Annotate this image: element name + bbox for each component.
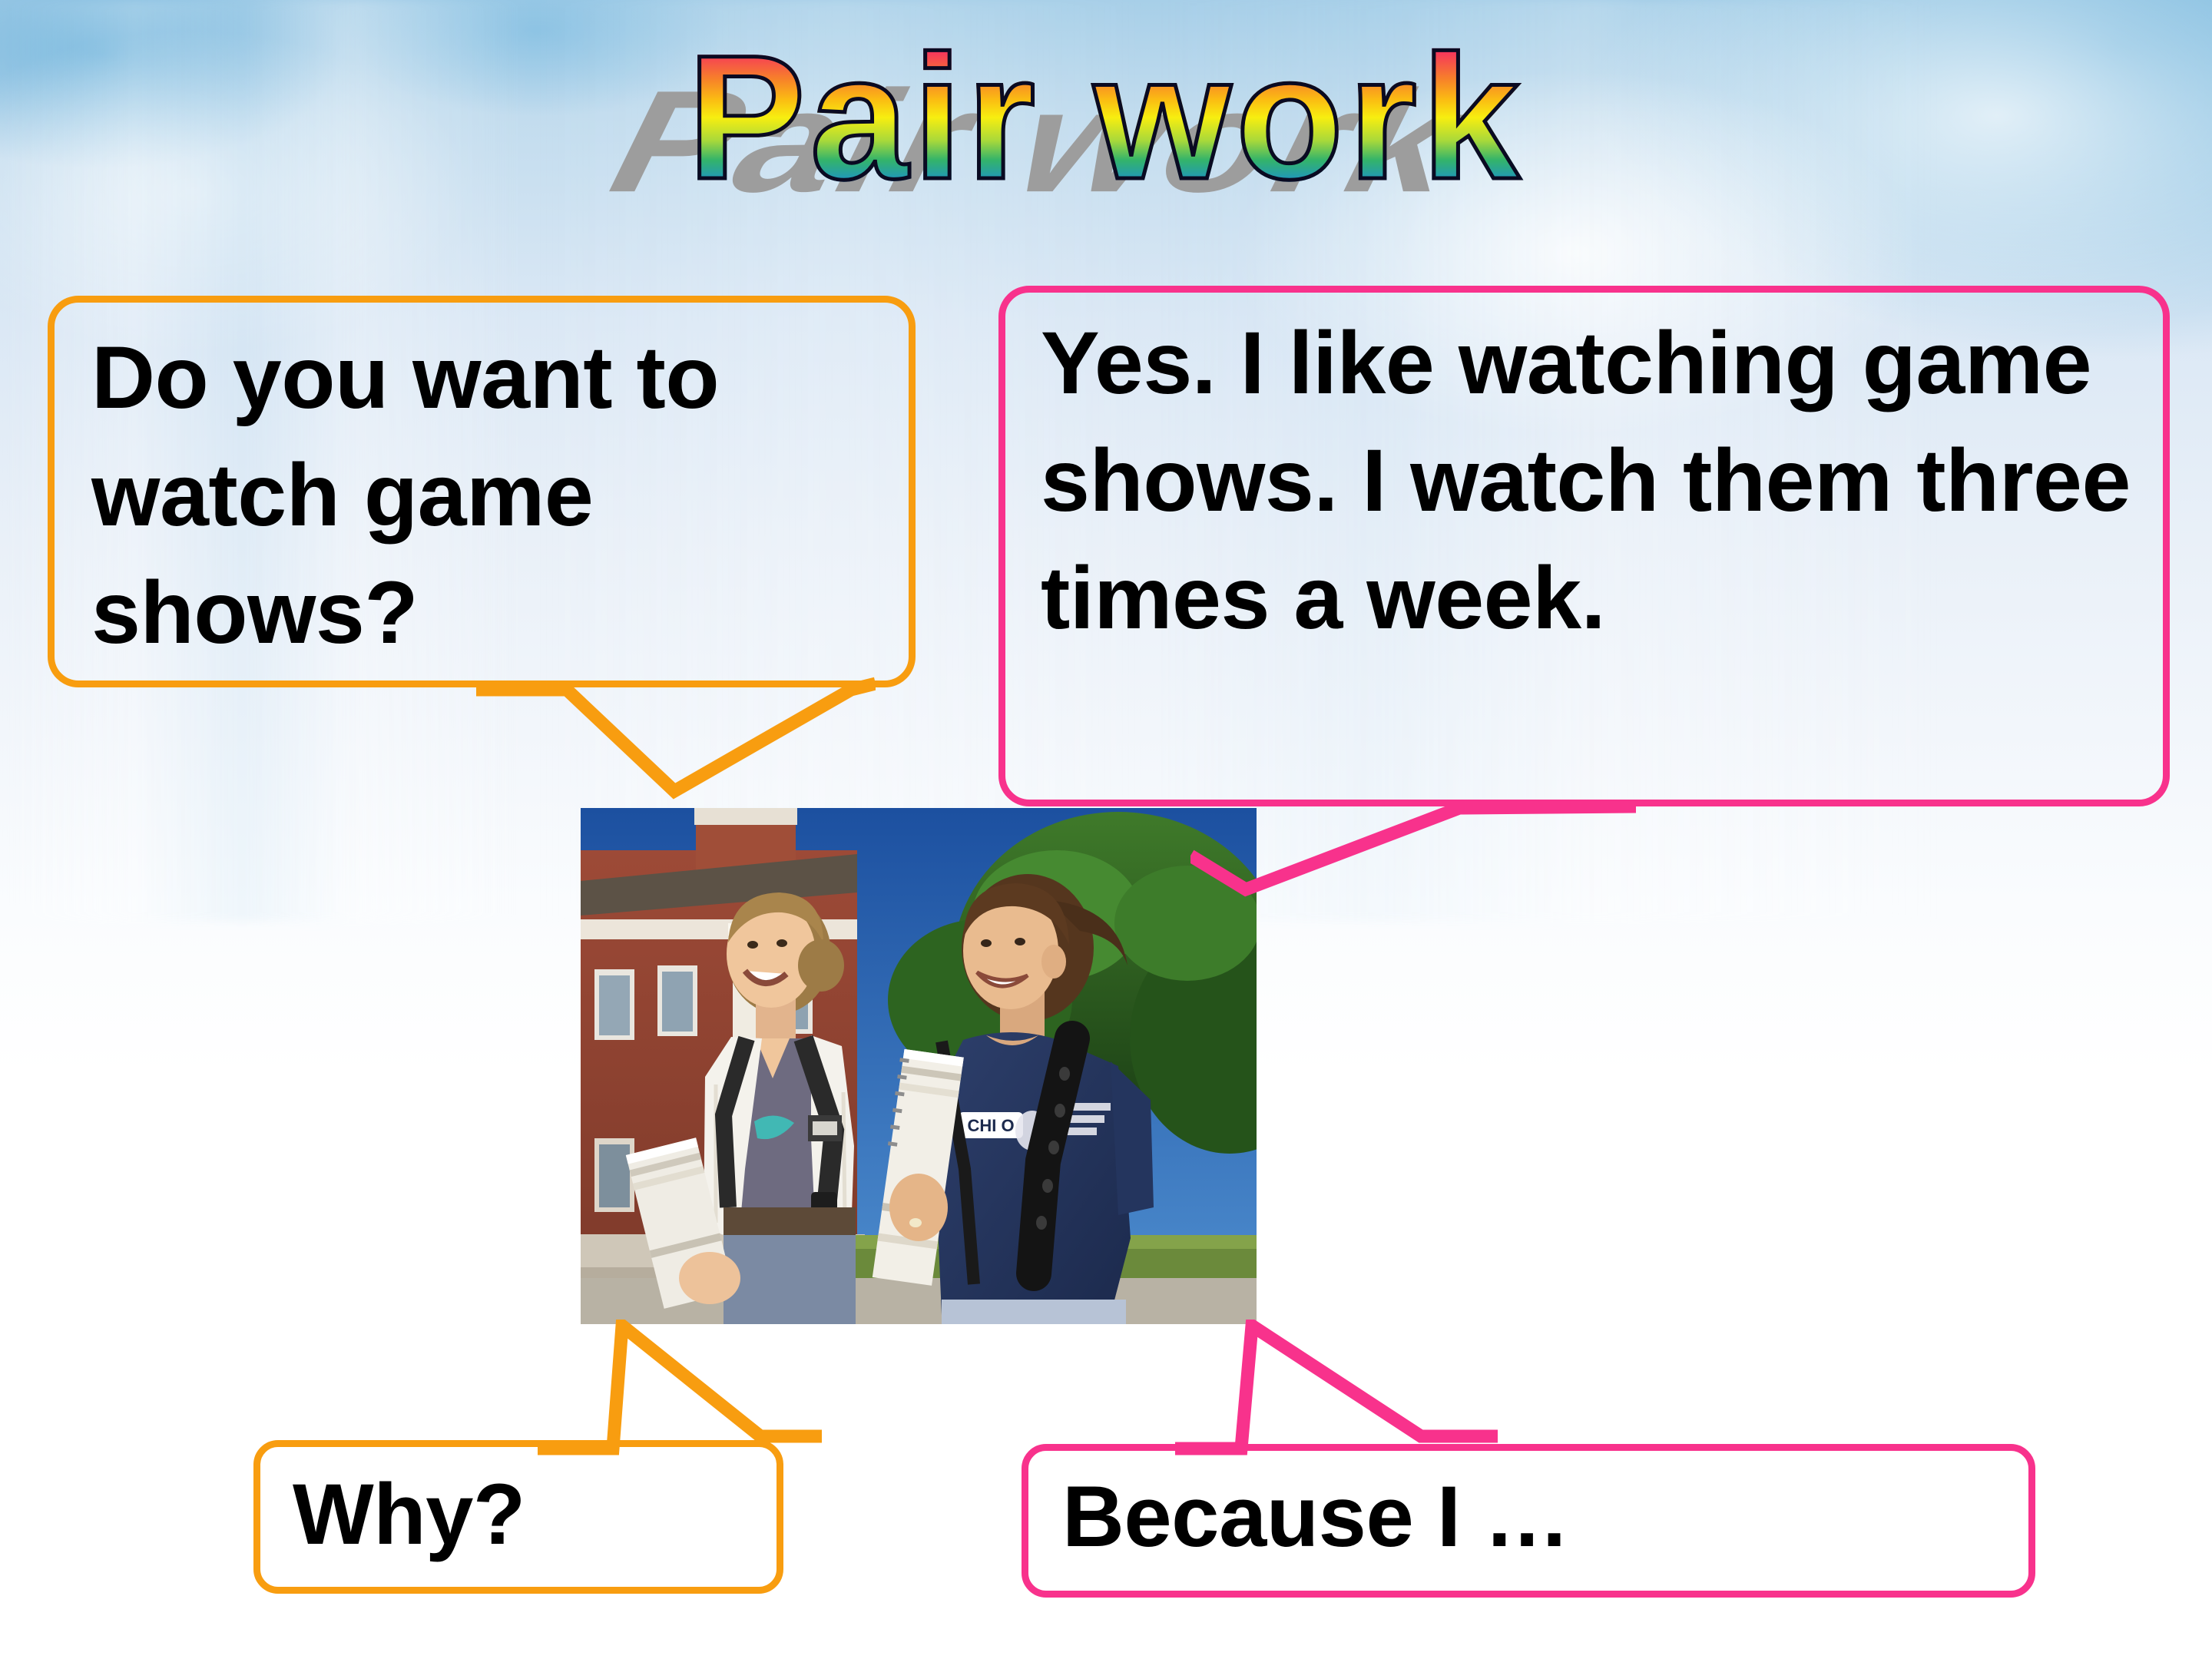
speech-bubble-answer-1-text: Yes. I like watching game shows. I watch… bbox=[1041, 305, 2158, 657]
campus-students-photo: CHI O bbox=[581, 808, 1257, 1324]
speech-bubble-tail-question-1 bbox=[476, 676, 876, 822]
speech-bubble-answer-2-text: Because I … bbox=[1062, 1463, 2015, 1571]
speech-bubble-question-1[interactable]: Do you want to watch game shows? bbox=[48, 296, 916, 687]
speech-bubble-question-1-text: Do you want to watch game shows? bbox=[91, 320, 906, 672]
speech-bubble-tail-answer-2 bbox=[1175, 1320, 1498, 1458]
photo-illustration: CHI O bbox=[581, 808, 1257, 1324]
speech-bubble-answer-1[interactable]: Yes. I like watching game shows. I watch… bbox=[998, 286, 2170, 806]
slide-canvas: Pair work Pair work Do you want to watch… bbox=[0, 0, 2212, 1659]
speech-bubble-question-2[interactable]: Why? bbox=[253, 1440, 783, 1594]
title-gradient-text: Pair work bbox=[0, 29, 2212, 206]
svg-text:CHI O: CHI O bbox=[967, 1116, 1014, 1135]
speech-bubble-answer-2[interactable]: Because I … bbox=[1022, 1444, 2035, 1598]
speech-bubble-tail-question-2 bbox=[538, 1320, 822, 1458]
speech-bubble-tail-answer-1 bbox=[1190, 799, 1636, 922]
speech-bubble-question-2-text: Why? bbox=[293, 1461, 769, 1568]
page-title: Pair work Pair work bbox=[0, 15, 2212, 261]
